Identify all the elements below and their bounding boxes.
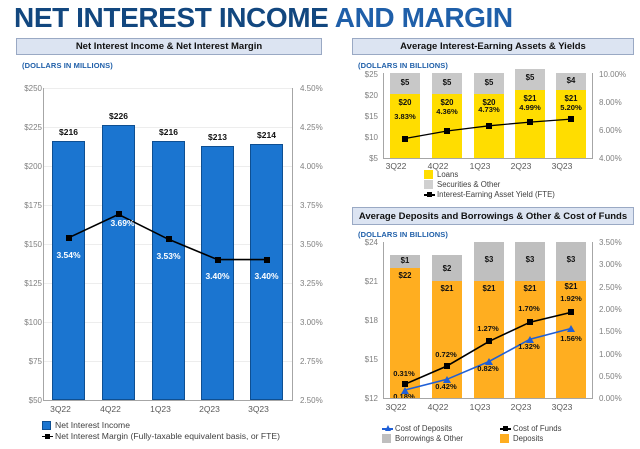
- deposits-legend-label-cost-of-deposits: Cost of Deposits: [395, 424, 452, 433]
- assets-y2tick-3: 10.00%: [599, 70, 626, 79]
- assets-securities-label-3Q23: $4: [551, 76, 591, 85]
- deposits-cod-label-4Q22: 0.42%: [424, 382, 468, 391]
- deposits-cof-label-3Q23: 1.92%: [549, 294, 593, 303]
- nii-margin-label-4Q22: 3.69%: [98, 218, 147, 228]
- nii-margin-label-3Q23: 3.40%: [242, 271, 291, 281]
- assets-yield-label-4Q22: 4.36%: [427, 107, 467, 116]
- deposits-y2tick-4: 2.00%: [599, 305, 622, 314]
- deposits-ytick-1: $15: [348, 355, 378, 364]
- nii-y2tick-4: 3.50%: [300, 240, 323, 249]
- nii-margin-label-1Q23: 3.53%: [144, 251, 193, 261]
- deposits-legend-item-cost-of-funds: Cost of Funds: [500, 424, 618, 433]
- deposits-legend-label-cost-of-funds: Cost of Funds: [513, 424, 562, 433]
- assets-yield-label-3Q22: 3.83%: [385, 112, 425, 121]
- assets-loans-label-3Q23: $21: [551, 94, 591, 103]
- assets-ytick-3: $20: [348, 91, 378, 100]
- assets-yield-label-2Q23: 4.99%: [510, 103, 550, 112]
- assets-yield-label-1Q23: 4.73%: [469, 105, 509, 114]
- deposits-cof-point-2Q23: [527, 319, 533, 325]
- nii-ytick-2: $100: [2, 318, 42, 327]
- deposits-y2tick-6: 3.00%: [599, 260, 622, 269]
- nii-xtick-3Q23: 3Q23: [234, 404, 283, 414]
- assets-panel-header: Average Interest-Earning Assets & Yields: [352, 38, 634, 55]
- deposits-deposits-label-3Q23: $21: [551, 282, 591, 291]
- page-title-part1: NET INTEREST INCOME: [14, 2, 328, 33]
- nii-point-1Q23: [166, 236, 172, 242]
- deposits-deposits-label-1Q23: $21: [469, 284, 509, 293]
- nii-panel-header: Net Interest Income & Net Interest Margi…: [16, 38, 322, 55]
- slide-root: NET INTEREST INCOME AND MARGIN Net Inter…: [0, 0, 640, 449]
- line-black-square-icon: [424, 190, 433, 199]
- assets-ytick-2: $15: [348, 112, 378, 121]
- deposits-cod-label-2Q23: 1.32%: [507, 342, 551, 351]
- assets-plot-area: $5 $5 $5 $5 $4 $20 $20 $20 $21 $21 3.83%…: [384, 73, 592, 158]
- assets-loans-label-3Q22: $20: [385, 98, 425, 107]
- nii-legend-item-margin: Net Interest Margin (Fully-taxable equiv…: [42, 431, 280, 441]
- nii-ytick-1: $75: [2, 357, 42, 366]
- deposits-cod-label-3Q22: 0.18%: [382, 392, 426, 401]
- deposits-cod-label-3Q23: 1.56%: [549, 334, 593, 343]
- deposits-borrowings-label-3Q22: $1: [385, 256, 425, 265]
- deposits-xtick-1Q23: 1Q23: [459, 402, 501, 412]
- bar-orange-icon: [500, 434, 509, 443]
- assets-legend-item-securities: Securities & Other: [424, 180, 555, 189]
- deposits-cof-point-1Q23: [486, 338, 492, 344]
- deposits-deposits-label-3Q22: $22: [385, 271, 425, 280]
- deposits-cod-label-1Q23: 0.82%: [466, 364, 510, 373]
- assets-legend-label-securities: Securities & Other: [437, 180, 500, 189]
- assets-xtick-3Q22: 3Q22: [375, 161, 417, 171]
- nii-y2tick-5: 3.75%: [300, 201, 323, 210]
- deposits-borrowings-label-4Q22: $2: [427, 264, 467, 273]
- deposits-panel-header: Average Deposits and Borrowings & Other …: [352, 207, 634, 225]
- deposits-legend-item-cost-of-deposits: Cost of Deposits: [382, 424, 500, 433]
- assets-legend: Loans Securities & Other Interest-Earnin…: [424, 170, 555, 200]
- nii-margin-label-2Q23: 3.40%: [193, 271, 242, 281]
- deposits-borrowings-label-3Q23: $3: [551, 255, 591, 264]
- nii-chart: $50 $75 $100 $125 $150 $175 $200 $225 $2…: [0, 70, 340, 410]
- line-blue-triangle-icon: [382, 424, 391, 433]
- deposits-ytick-0: $12: [348, 394, 378, 403]
- nii-xtick-4Q22: 4Q22: [86, 404, 135, 414]
- bar-gray-icon: [424, 180, 433, 189]
- nii-point-3Q23: [264, 257, 270, 263]
- deposits-y2tick-7: 3.50%: [599, 238, 622, 247]
- deposits-legend-label-deposits: Deposits: [513, 434, 543, 443]
- deposits-cof-label-4Q22: 0.72%: [424, 350, 468, 359]
- nii-y2tick-8: 4.50%: [300, 84, 323, 93]
- nii-ytick-4: $150: [2, 240, 42, 249]
- deposits-y2tick-2: 1.00%: [599, 350, 622, 359]
- nii-bar-label-1Q23: $216: [144, 127, 193, 137]
- nii-legend: Net Interest Income Net Interest Margin …: [42, 420, 280, 442]
- deposits-deposits-label-2Q23: $21: [510, 284, 550, 293]
- assets-point-2Q23: [527, 119, 533, 125]
- deposits-plot-area: $1 $2 $3 $3 $3 $22 $21 $21 $21 $21 0.31%…: [384, 242, 592, 398]
- nii-ytick-3: $125: [2, 279, 42, 288]
- page-title-part2: AND MARGIN: [335, 2, 513, 33]
- assets-point-4Q22: [444, 128, 450, 134]
- nii-ytick-5: $175: [2, 201, 42, 210]
- deposits-y2tick-0: 0.00%: [599, 394, 622, 403]
- deposits-cof-label-3Q22: 0.31%: [382, 369, 426, 378]
- assets-point-1Q23: [486, 123, 492, 129]
- assets-legend-label-loans: Loans: [437, 170, 458, 179]
- nii-bar-label-3Q22: $216: [44, 127, 93, 137]
- nii-point-4Q22: [116, 211, 122, 217]
- nii-plot-area: $216 $226 $216 $213 $214 3.54% 3.69% 3.5…: [44, 88, 292, 400]
- nii-xtick-2Q23: 2Q23: [185, 404, 234, 414]
- assets-legend-label-yield: Interest-Earning Asset Yield (FTE): [437, 190, 555, 199]
- deposits-y2tick-3: 1.50%: [599, 327, 622, 336]
- assets-securities-label-1Q23: $5: [469, 78, 509, 87]
- assets-securities-label-4Q22: $5: [427, 78, 467, 87]
- nii-y2tick-3: 3.25%: [300, 279, 323, 288]
- assets-units-label: (DOLLARS IN BILLIONS): [358, 61, 448, 70]
- nii-point-3Q22: [66, 235, 72, 241]
- nii-margin-label-3Q22: 3.54%: [44, 250, 93, 260]
- assets-legend-item-yield: Interest-Earning Asset Yield (FTE): [424, 190, 555, 199]
- bar-yellow-icon: [424, 170, 433, 179]
- assets-y2tick-2: 8.00%: [599, 98, 622, 107]
- nii-xtick-1Q23: 1Q23: [136, 404, 185, 414]
- assets-yield-label-3Q23: 5.20%: [551, 103, 591, 112]
- nii-y2tick-7: 4.25%: [300, 123, 323, 132]
- deposits-legend: Cost of Deposits Borrowings & Other Cost…: [382, 424, 618, 444]
- line-black-square-icon: [42, 432, 51, 441]
- deposits-y2tick-1: 0.50%: [599, 372, 622, 381]
- deposits-legend-label-borrowings: Borrowings & Other: [395, 434, 463, 443]
- nii-bar-label-2Q23: $213: [193, 132, 242, 142]
- assets-ytick-1: $10: [348, 133, 378, 142]
- assets-point-3Q23: [568, 116, 574, 122]
- assets-y2tick-0: 4.00%: [599, 154, 622, 163]
- nii-legend-label-margin: Net Interest Margin (Fully-taxable equiv…: [55, 431, 280, 441]
- nii-ytick-7: $225: [2, 123, 42, 132]
- nii-legend-label-income: Net Interest Income: [55, 420, 130, 430]
- bar-gray-icon: [382, 434, 391, 443]
- nii-y2tick-6: 4.00%: [300, 162, 323, 171]
- deposits-cof-point-4Q22: [444, 363, 450, 369]
- assets-chart: $25 $20 $15 $10 $5 10.00% 8.00% 6.00% 4.…: [344, 70, 640, 170]
- assets-securities-label-2Q23: $5: [510, 73, 550, 82]
- deposits-cod-point-3Q23: [567, 325, 575, 332]
- nii-ytick-6: $200: [2, 162, 42, 171]
- deposits-xtick-4Q22: 4Q22: [417, 402, 459, 412]
- nii-y2tick-2: 3.00%: [300, 318, 323, 327]
- deposits-cof-label-1Q23: 1.27%: [466, 324, 510, 333]
- nii-legend-item-income: Net Interest Income: [42, 420, 280, 430]
- deposits-y2tick-5: 2.50%: [599, 283, 622, 292]
- deposits-legend-item-borrowings: Borrowings & Other: [382, 434, 500, 443]
- deposits-xtick-2Q23: 2Q23: [500, 402, 542, 412]
- deposits-chart: $24 $21 $18 $15 $12 3.50% 3.00% 2.50% 2.…: [344, 238, 640, 413]
- assets-securities-label-3Q22: $5: [385, 78, 425, 87]
- nii-ytick-8: $250: [2, 84, 42, 93]
- assets-loans-label-4Q22: $20: [427, 98, 467, 107]
- deposits-xtick-3Q22: 3Q22: [375, 402, 417, 412]
- deposits-cof-point-3Q23: [568, 309, 574, 315]
- nii-y2tick-1: 2.75%: [300, 357, 323, 366]
- deposits-ytick-3: $21: [348, 277, 378, 286]
- assets-ytick-0: $5: [348, 154, 378, 163]
- deposits-legend-item-deposits: Deposits: [500, 434, 618, 443]
- deposits-cof-label-2Q23: 1.70%: [507, 304, 551, 313]
- deposits-borrowings-label-1Q23: $3: [469, 255, 509, 264]
- bar-blue-icon: [42, 421, 51, 430]
- page-title: NET INTEREST INCOME AND MARGIN: [14, 2, 513, 34]
- nii-bar-label-3Q23: $214: [242, 130, 291, 140]
- nii-units-label: (DOLLARS IN MILLIONS): [22, 61, 113, 70]
- assets-y2tick-1: 6.00%: [599, 126, 622, 135]
- deposits-deposits-label-4Q22: $21: [427, 284, 467, 293]
- assets-loans-label-2Q23: $21: [510, 94, 550, 103]
- deposits-ytick-2: $18: [348, 316, 378, 325]
- nii-xtick-3Q22: 3Q22: [36, 404, 85, 414]
- assets-point-3Q22: [402, 136, 408, 142]
- assets-ytick-4: $25: [348, 70, 378, 79]
- deposits-ytick-4: $24: [348, 238, 378, 247]
- deposits-borrowings-label-2Q23: $3: [510, 255, 550, 264]
- nii-point-2Q23: [215, 257, 221, 263]
- line-black-square-icon: [500, 424, 509, 433]
- deposits-xtick-3Q23: 3Q23: [541, 402, 583, 412]
- nii-y2tick-0: 2.50%: [300, 396, 323, 405]
- assets-legend-item-loans: Loans: [424, 170, 555, 179]
- nii-bar-label-4Q22: $226: [94, 111, 143, 121]
